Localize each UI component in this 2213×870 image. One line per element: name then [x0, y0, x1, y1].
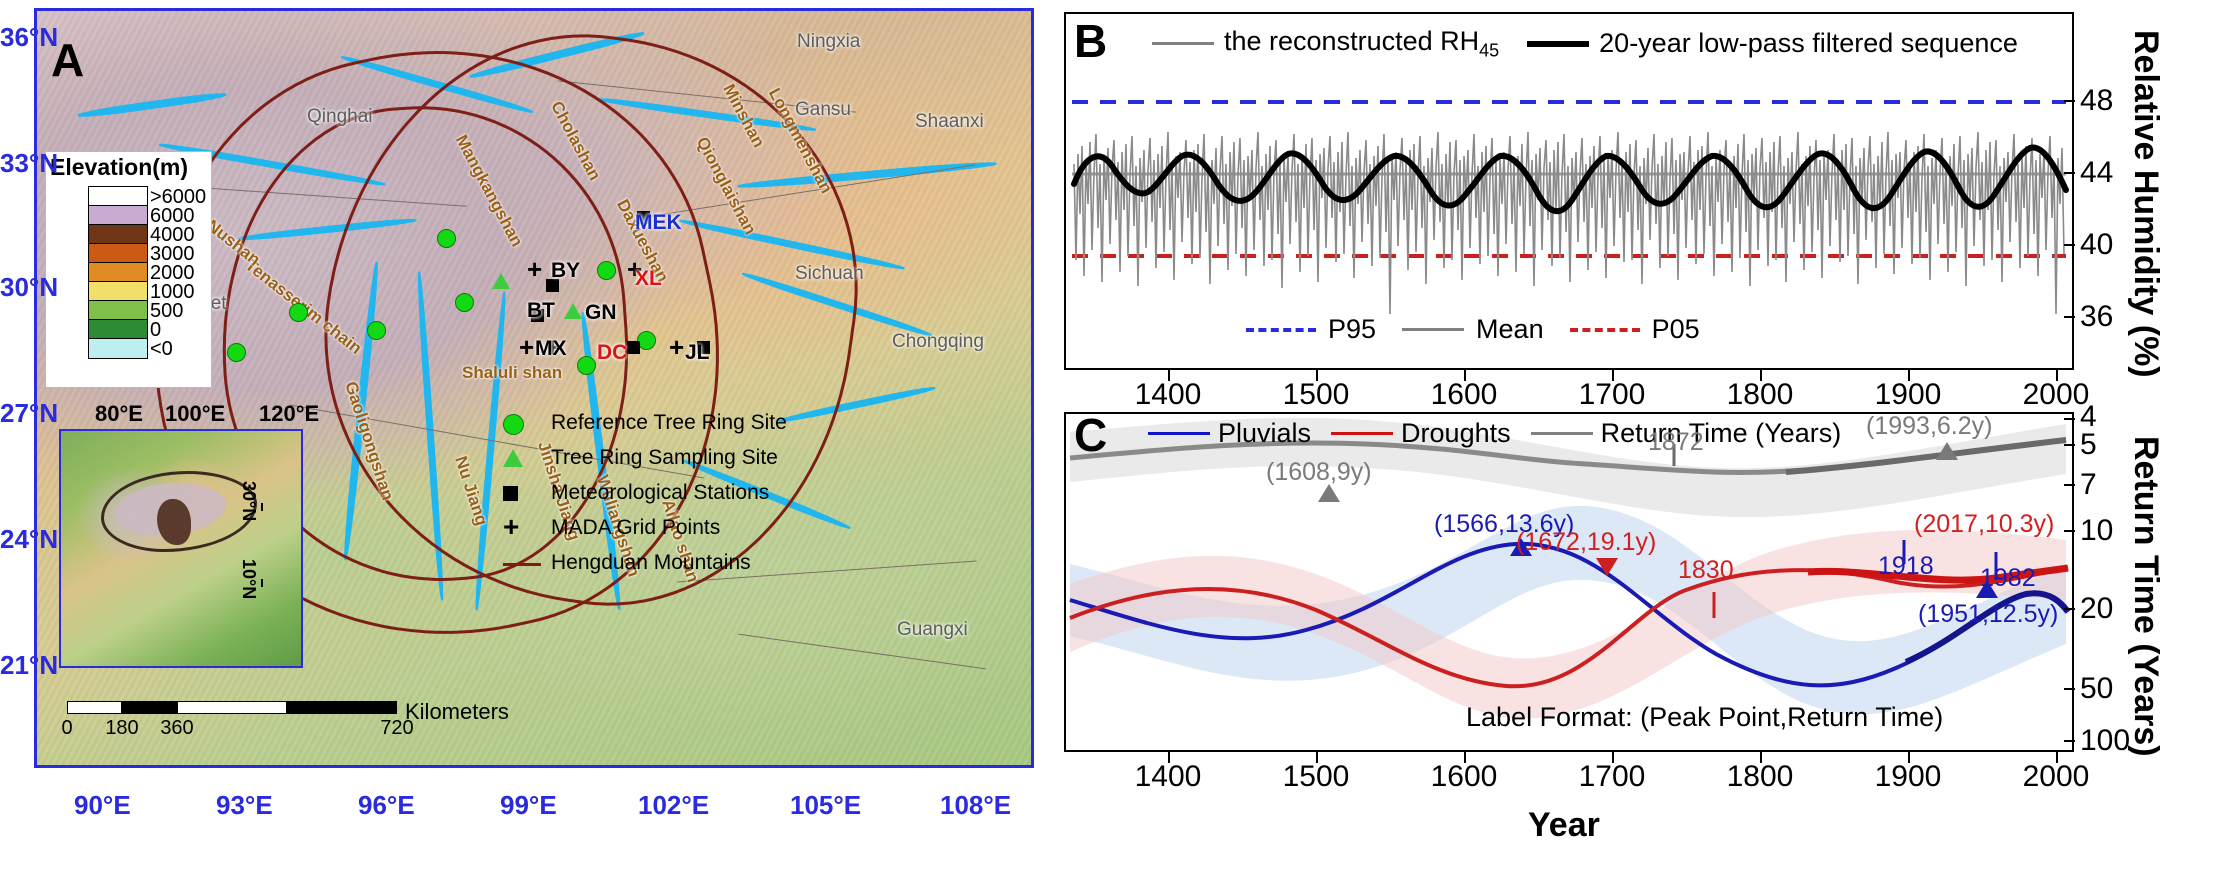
p05-dashed-line-icon	[1570, 328, 1640, 332]
figure-root: Tenasserim chain Nushan Mangkangshan Cho…	[0, 0, 2213, 870]
inset-ylabel-30n: 30°N	[238, 481, 259, 521]
thin-gray-line-icon	[1152, 42, 1214, 45]
panel-b-xlabel-1400: 1400	[1135, 378, 1202, 412]
mada-grid-point[interactable]: +	[527, 263, 542, 275]
panel-b-y-axis-title: Relative Humidity (%)	[2126, 30, 2165, 378]
map-xlabel-99e: 99°E	[500, 790, 557, 821]
site-label-bt: BT	[527, 299, 555, 323]
site-label-dc: DC	[597, 341, 627, 365]
scale-bar-unit: Kilometers	[405, 699, 509, 725]
panel-c-ytick	[2064, 530, 2075, 532]
panel-c-xlabel-1500: 1500	[1283, 760, 1350, 794]
scale-segment	[67, 701, 122, 714]
legend-label-lowpass: 20-year low-pass filtered sequence	[1599, 28, 2018, 59]
panel-c-xlabel-1700: 1700	[1579, 760, 1646, 794]
elevation-swatch	[88, 186, 148, 207]
panel-c-xlabel-1800: 1800	[1727, 760, 1794, 794]
map-legend: Reference Tree Ring Site Tree Ring Sampl…	[503, 409, 1023, 584]
annotation-1993: (1993,6.2y)	[1866, 412, 1992, 441]
panel-b-ylabel-48: 48	[2080, 84, 2113, 118]
panel-b-legend-bottom: P95 Mean P05	[1246, 314, 1700, 345]
legend-label-mean: Mean	[1476, 314, 1544, 345]
annotation-1672: (1672,19.1y)	[1516, 528, 1656, 557]
droughts-line-icon	[1331, 432, 1393, 435]
reference-tree-ring-site[interactable]	[455, 293, 474, 312]
map-ylabel-30n: 30°N	[0, 272, 58, 303]
map-legend-row: Reference Tree Ring Site	[503, 409, 1023, 444]
scale-bar: 0 180 360 720	[67, 701, 397, 719]
site-label-xl: XL	[635, 267, 662, 291]
province-label-gansu: Gansu	[795, 99, 851, 121]
elevation-swatch	[88, 300, 148, 321]
site-label-mek: MEK	[635, 211, 682, 235]
elevation-swatch	[88, 224, 148, 245]
reference-tree-ring-site[interactable]	[289, 303, 308, 322]
reference-tree-ring-site[interactable]	[367, 321, 386, 340]
map-legend-row: + MADA Grid Points	[503, 514, 1023, 549]
panel-b-ylabel-36: 36	[2080, 300, 2113, 334]
scale-segment	[177, 701, 287, 714]
thick-black-line-icon	[1527, 41, 1589, 47]
map-xlabel-90e: 90°E	[74, 790, 131, 821]
elevation-swatch	[88, 262, 148, 283]
brown-line-icon	[503, 549, 543, 579]
map-ylabel-33n: 33°N	[0, 148, 58, 179]
province-label-shaanxi: Shaanxi	[915, 111, 984, 133]
panel-b-letter: B	[1074, 18, 1107, 64]
annotation-1918: 1918	[1878, 552, 1934, 581]
panel-b-ytick	[2064, 172, 2075, 174]
reference-tree-ring-site[interactable]	[597, 261, 616, 280]
black-square-icon	[503, 479, 543, 509]
annotation-2017: (2017,10.3y)	[1914, 510, 2054, 539]
province-label-guangxi: Guangxi	[897, 619, 968, 641]
reference-tree-ring-site[interactable]	[437, 229, 456, 248]
green-circle-icon	[503, 409, 543, 439]
map-legend-label: MADA Grid Points	[551, 516, 720, 540]
inset-tick	[261, 503, 263, 511]
panel-b-xlabel-1800: 1800	[1727, 378, 1794, 412]
elevation-legend-title: Elevation(m)	[50, 154, 188, 181]
map-ylabel-27n: 27°N	[0, 398, 58, 429]
map-xlabel-105e: 105°E	[790, 790, 861, 821]
scale-tick-label: 360	[160, 717, 193, 740]
green-triangle-icon	[503, 444, 543, 474]
panel-c-footnote: Label Format: (Peak Point,Return Time)	[1466, 702, 1943, 733]
panel-c-ytick	[2064, 418, 2075, 420]
scale-segment	[287, 701, 397, 714]
scale-tick-label: 0	[61, 717, 72, 740]
province-label-chongqing: Chongqing	[892, 331, 984, 353]
panel-c-svg	[1066, 414, 2072, 750]
panel-c-ylabel-100: 100	[2080, 724, 2130, 758]
panel-c-ylabel-10: 10	[2080, 514, 2113, 548]
panel-b-ytick	[2064, 100, 2075, 102]
tree-ring-sampling-site[interactable]	[492, 273, 510, 289]
legend-label-reconstructed: the reconstructed RH45	[1224, 26, 1499, 61]
panel-c-xlabel-1400: 1400	[1135, 760, 1202, 794]
panel-b-xlabel-1700: 1700	[1579, 378, 1646, 412]
annotation-1951: (1951,12.5y)	[1918, 600, 2058, 629]
panel-b-ytick	[2064, 244, 2075, 246]
panel-c-legend: Pluvials Droughts Return Time (Years)	[1148, 418, 1841, 449]
elevation-swatch	[88, 338, 148, 359]
map-xlabel-93e: 93°E	[216, 790, 273, 821]
range-label-shalulishan: Shaluli shan	[462, 363, 562, 383]
mada-grid-point[interactable]: +	[519, 341, 534, 353]
mean-line-icon	[1402, 328, 1464, 331]
province-label-qinghai: Qinghai	[307, 106, 373, 128]
panel-c-ylabel-7: 7	[2080, 468, 2097, 502]
scale-segment	[122, 701, 177, 714]
mada-grid-point[interactable]: +	[669, 341, 684, 353]
site-label-by: BY	[551, 259, 580, 283]
map-legend-label: Hengduan Mountains	[551, 551, 751, 575]
legend-label-p05: P05	[1652, 314, 1700, 345]
panel-c-letter: C	[1074, 412, 1107, 458]
map-xlabel-102e: 102°E	[638, 790, 709, 821]
inset-tick	[261, 579, 263, 587]
map-ylabel-24n: 24°N	[0, 524, 58, 555]
inset-xlabel-100e: 100°E	[165, 401, 225, 427]
panel-c-x-axis-title: Year	[1528, 806, 1600, 845]
map-legend-label: Meteorological Stations	[551, 481, 769, 505]
scale-tick-label: 180	[105, 717, 138, 740]
map-ylabel-21n: 21°N	[0, 650, 58, 681]
return-time-line-icon	[1531, 432, 1593, 435]
map-ylabel-36n: 36°N	[0, 22, 58, 53]
elevation-swatch	[88, 319, 148, 340]
panel-b-xlabel-1600: 1600	[1431, 378, 1498, 412]
panel-c-xlabel-2000: 2000	[2023, 760, 2090, 794]
inset-xlabel-80e: 80°E	[95, 401, 143, 427]
panel-b-ylabel-40: 40	[2080, 228, 2113, 262]
inset-xlabel-120e: 120°E	[259, 401, 319, 427]
legend-label-return-time: Return Time (Years)	[1601, 418, 1842, 449]
peak-marker-1672	[1596, 558, 1618, 576]
panel-b-plot[interactable]: B the reconstructed RH45 20-year low-pas…	[1064, 12, 2074, 370]
panel-b-ytick	[2064, 316, 2075, 318]
peak-marker-1993	[1936, 442, 1958, 460]
province-label-ningxia: Ningxia	[797, 31, 860, 53]
map-xlabel-108e: 108°E	[940, 790, 1011, 821]
map-legend-row: Tree Ring Sampling Site	[503, 444, 1023, 479]
elevation-swatch	[88, 243, 148, 264]
pluvials-line-icon	[1148, 432, 1210, 435]
panel-b-legend-top: the reconstructed RH45 20-year low-pass …	[1152, 26, 2018, 61]
reference-tree-ring-site[interactable]	[227, 343, 246, 362]
panel-a-map[interactable]: Tenasserim chain Nushan Mangkangshan Cho…	[34, 8, 1034, 768]
panel-b-xlabel-1500: 1500	[1283, 378, 1350, 412]
map-legend-label: Tree Ring Sampling Site	[551, 446, 778, 470]
panel-c-ytick	[2064, 688, 2075, 690]
panel-c-ytick	[2064, 444, 2075, 446]
panel-b-xlabel-1900: 1900	[1875, 378, 1942, 412]
elevation-label: <0	[150, 338, 173, 361]
inset-map[interactable]: 30°N 10°N	[59, 429, 303, 668]
legend-label-droughts: Droughts	[1401, 418, 1511, 449]
site-label-mx: MX	[535, 337, 567, 361]
annotation-1982: 1982	[1980, 564, 2036, 593]
map-legend-row: Meteorological Stations	[503, 479, 1023, 514]
peak-marker-1608	[1318, 484, 1340, 502]
panel-c-ylabel-50: 50	[2080, 672, 2113, 706]
map-xlabel-96e: 96°E	[358, 790, 415, 821]
site-label-jl: JL	[685, 341, 710, 365]
elevation-legend: Elevation(m) >6000 6000 4000 3000 2000 1…	[45, 151, 212, 388]
panel-c-ytick	[2064, 608, 2075, 610]
panel-c-ytick	[2064, 484, 2075, 486]
panel-c-ytick	[2064, 740, 2075, 742]
annotation-1830: 1830	[1678, 556, 1734, 585]
annotation-1872: 1872	[1648, 428, 1704, 457]
black-plus-icon: +	[503, 514, 543, 544]
panel-c-plot[interactable]: C Pluvials Droughts Return Time (Years) …	[1064, 412, 2074, 752]
panel-c-ylabel-20: 20	[2080, 592, 2113, 626]
panel-c-ylabel-5: 5	[2080, 428, 2097, 462]
inset-ylabel-10n: 10°N	[238, 559, 259, 599]
panel-b-ylabel-44: 44	[2080, 156, 2113, 190]
elevation-swatch	[88, 281, 148, 302]
province-label-sichuan: Sichuan	[795, 263, 864, 285]
reference-tree-ring-site[interactable]	[577, 356, 596, 375]
map-legend-row: Hengduan Mountains	[503, 549, 1023, 584]
annotation-1608: (1608,9y)	[1266, 458, 1372, 487]
p95-dashed-line-icon	[1246, 328, 1316, 332]
panel-c-y-axis-title: Return Time (Years)	[2126, 436, 2165, 757]
site-label-gn: GN	[585, 301, 617, 325]
legend-label-pluvials: Pluvials	[1218, 418, 1311, 449]
map-legend-label: Reference Tree Ring Site	[551, 411, 787, 435]
tree-ring-sampling-site[interactable]	[564, 303, 582, 319]
panel-c-xlabel-1900: 1900	[1875, 760, 1942, 794]
meteorological-station[interactable]	[627, 341, 640, 354]
legend-label-p95: P95	[1328, 314, 1376, 345]
elevation-swatch	[88, 205, 148, 226]
panel-c-xlabel-1600: 1600	[1431, 760, 1498, 794]
